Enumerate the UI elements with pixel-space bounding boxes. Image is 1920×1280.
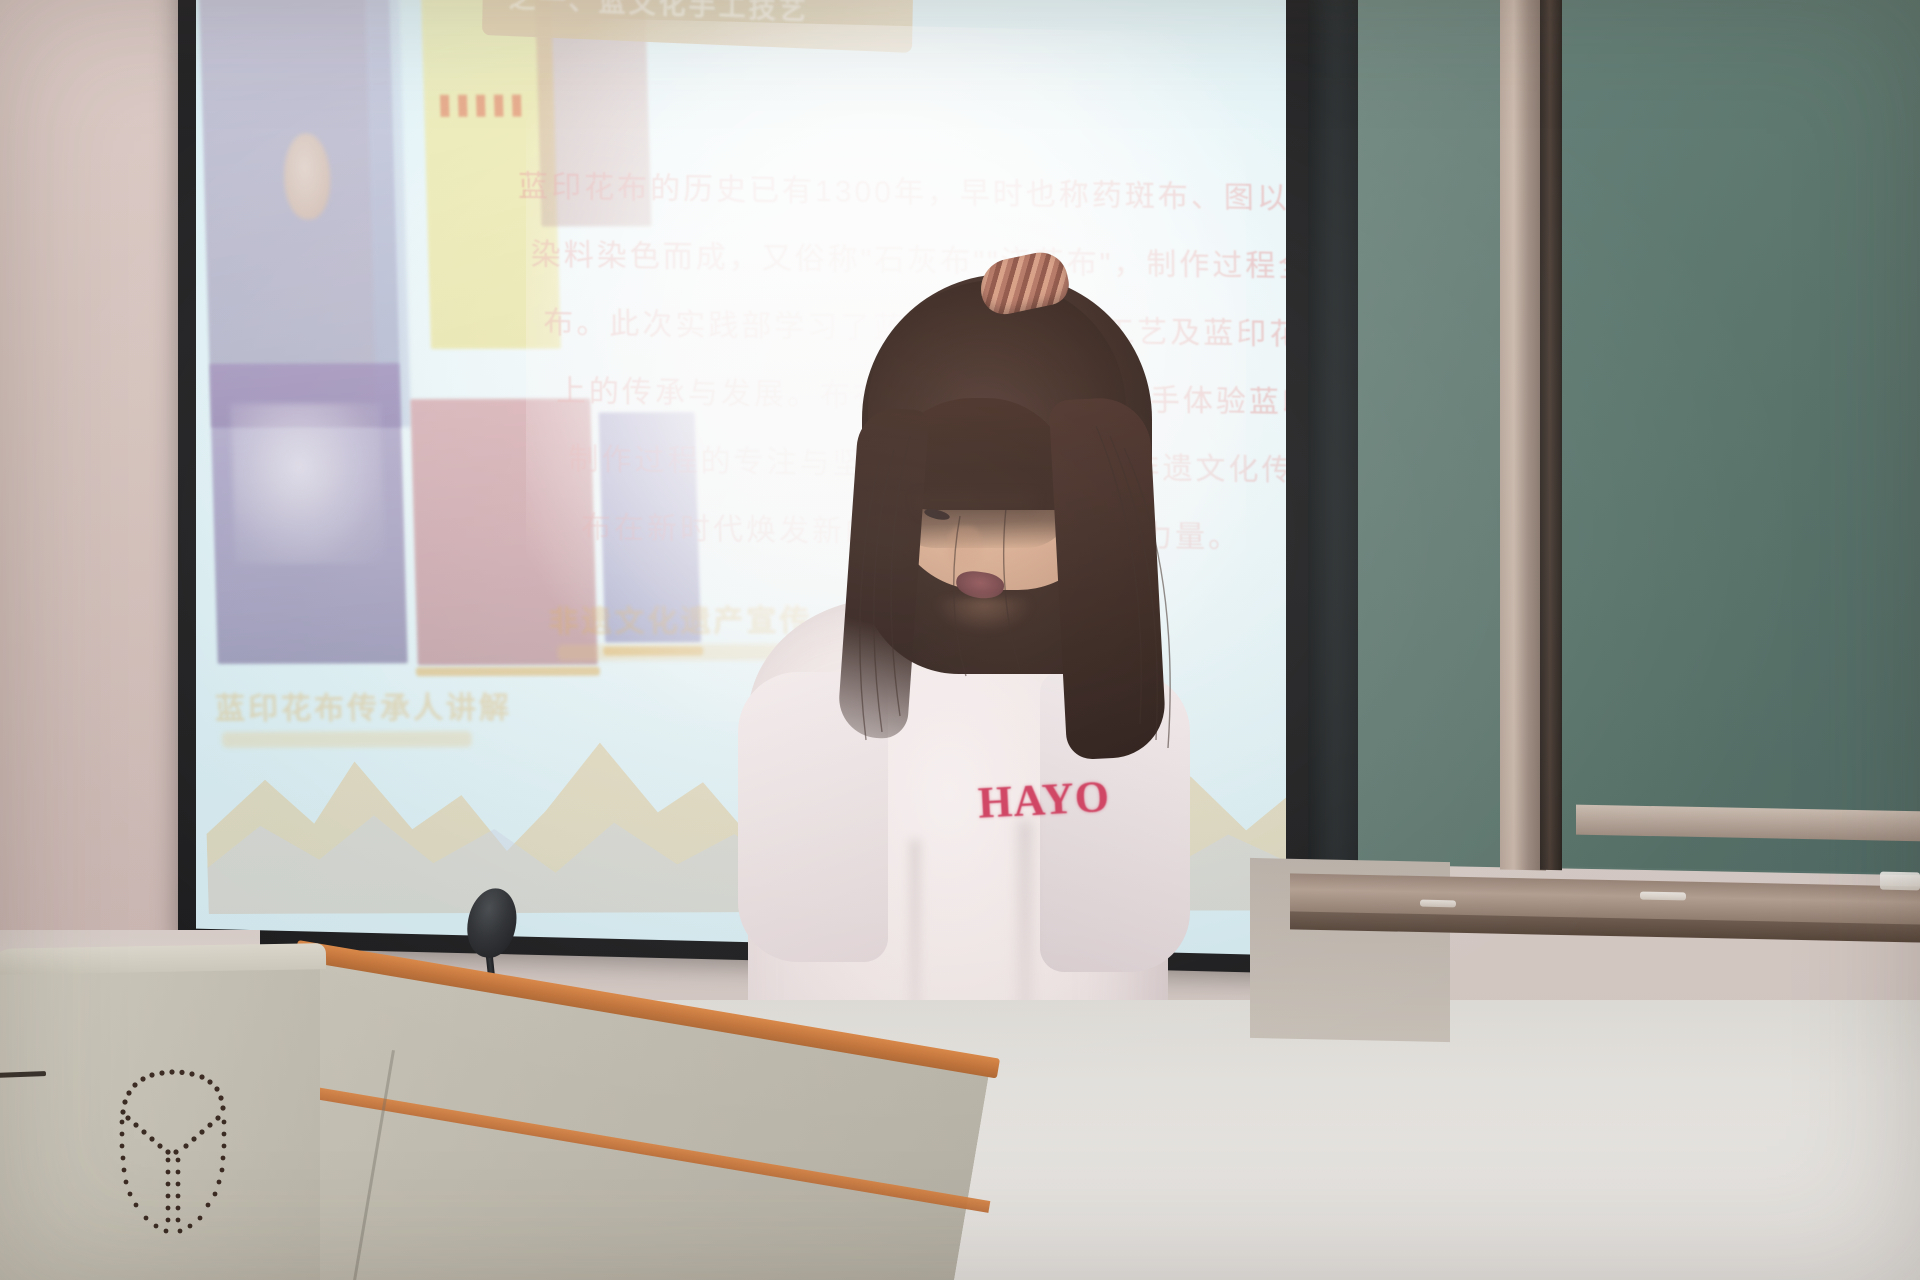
slide-body-text: 蓝印花布的历史已有1300年，早时也称药斑布、图以天然蓝草为 染料染色而成，又俗… <box>518 171 1278 183</box>
slide-caption-right: 非遗文化遗产宣传 <box>548 596 813 641</box>
blackboard-panel-right <box>1562 0 1920 874</box>
slide-photo-cloth-highlight <box>231 403 385 564</box>
slide-caption-bar-right <box>557 644 793 661</box>
blackboard-rail-groove <box>1540 0 1562 870</box>
slide-photo-underline-left <box>416 667 600 677</box>
presenter-hair-strands <box>810 340 1230 860</box>
slide-title-line-2: 之一、蓝文化手工技艺 <box>508 0 809 28</box>
slide-body-line-2: 染料染色而成，又俗称"石灰布""浇花布"，制作过程全为手工操 <box>531 240 1286 286</box>
chalk-piece[interactable] <box>1640 892 1686 901</box>
slide-photo-poster-text <box>440 95 527 117</box>
podium-cube-logo-icon <box>112 1068 232 1244</box>
chalk-piece[interactable] <box>1880 872 1920 891</box>
chalk-piece[interactable] <box>1420 900 1456 908</box>
classroom-presentation-photo: 蓝印花布传承人讲解 非遗文化遗产宣传 蓝印花布的 之一、蓝文化手工技艺 蓝印花布… <box>0 0 1920 1280</box>
